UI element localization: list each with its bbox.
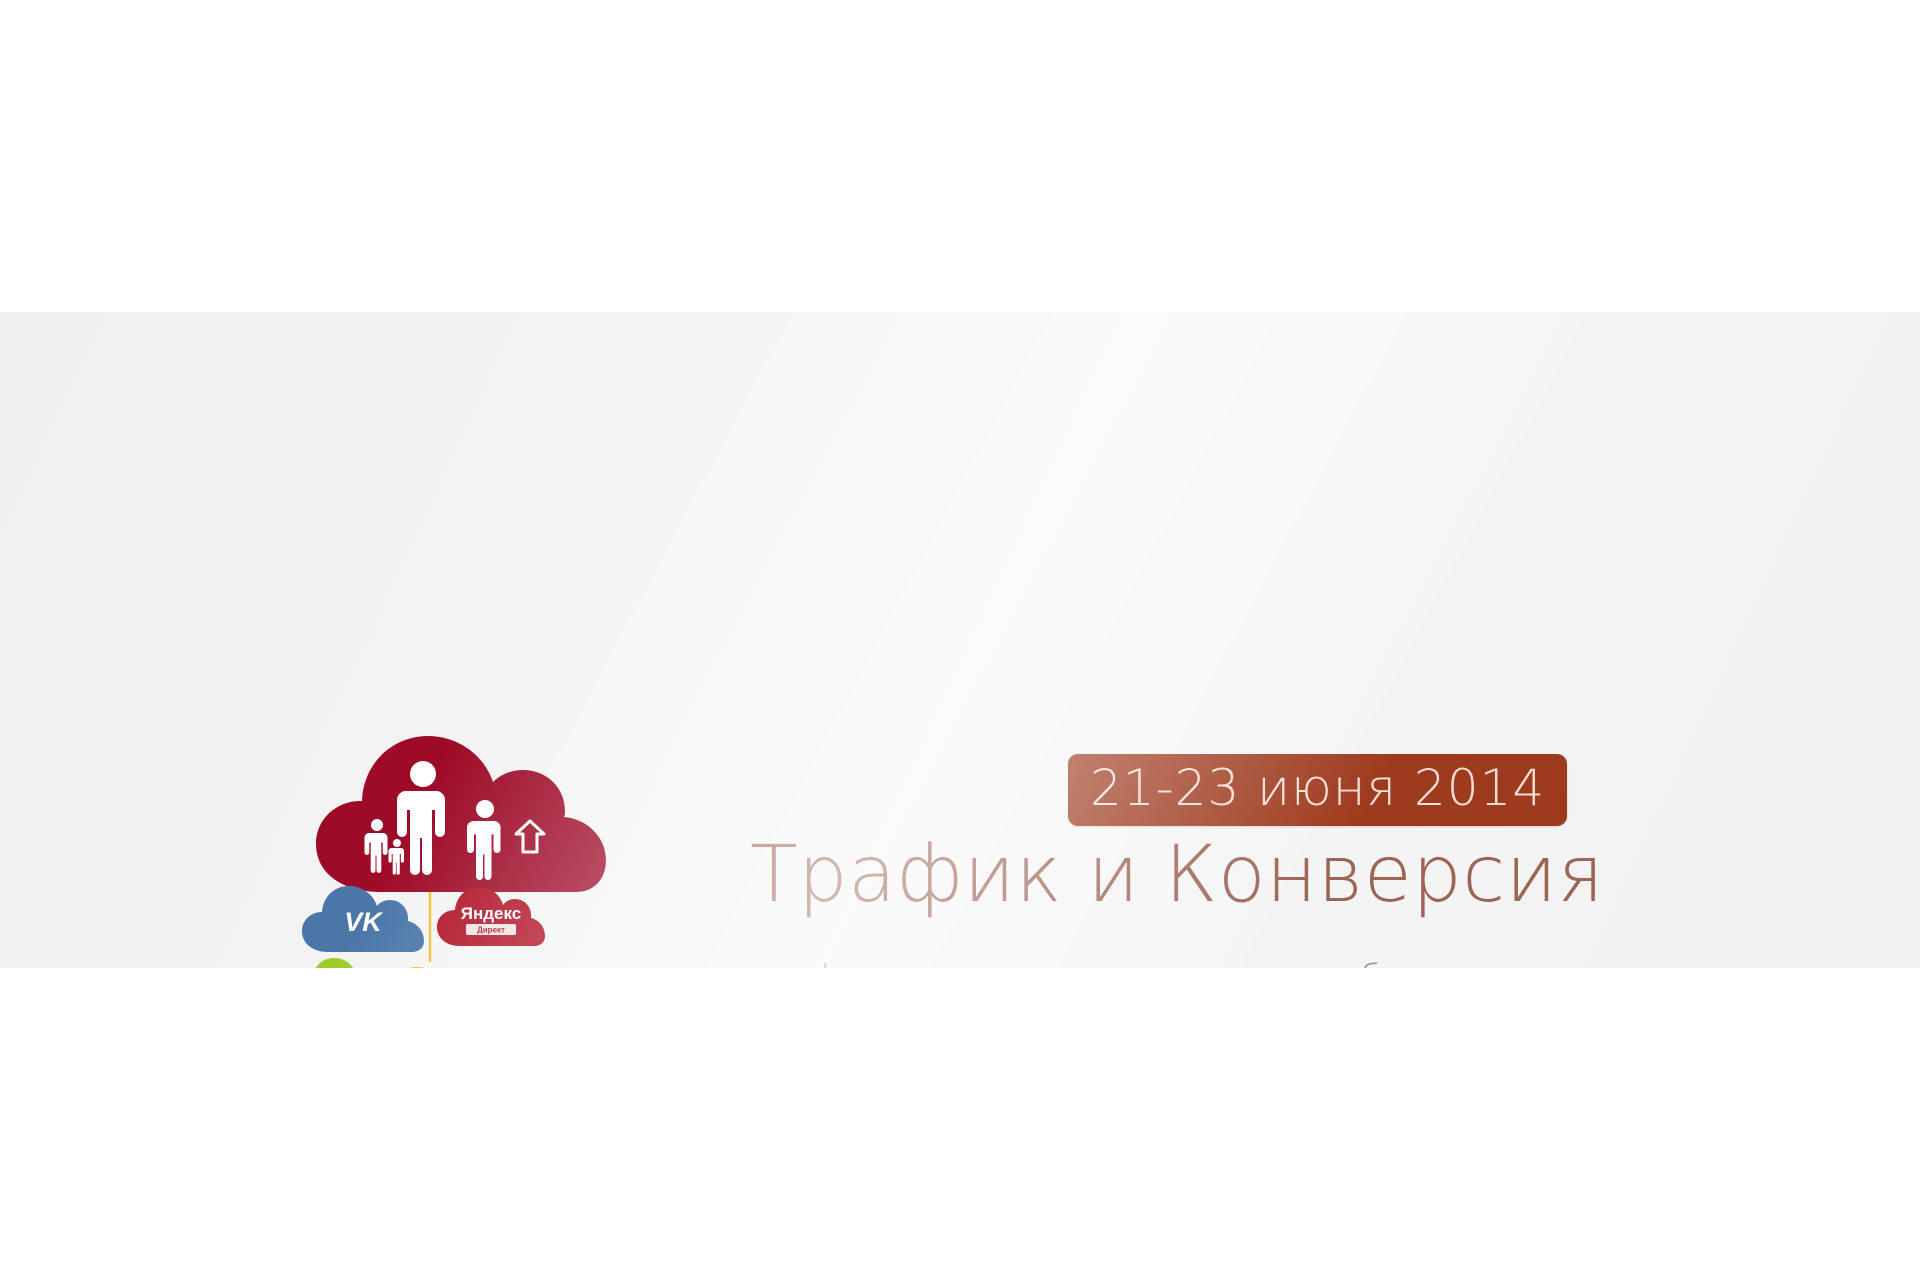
- conference-banner: VK Яндекс Директ: [0, 312, 1920, 968]
- page-title: Трафик и Конверсия: [750, 832, 1604, 918]
- audience-cloud: [316, 736, 606, 892]
- page-canvas: VK Яндекс Директ: [0, 0, 1920, 1280]
- mail-cloud[interactable]: [300, 958, 394, 968]
- yandex-label: Яндекс: [461, 904, 521, 923]
- banner-text-block: 21-23 июня 2014 Трафик и Конверсия конфе…: [750, 742, 1650, 968]
- yandex-direct-label: Директ: [477, 926, 505, 935]
- yandex-cloud[interactable]: Яндекс Директ: [437, 887, 545, 946]
- date-badge: 21-23 июня 2014: [1068, 754, 1567, 826]
- vk-cloud[interactable]: VK: [302, 886, 424, 952]
- subtitle-line-1: конференция о тонких и высокоприбыльных: [752, 954, 1509, 968]
- cloud-illustration: VK Яндекс Директ: [300, 712, 640, 968]
- vk-icon: VK: [344, 907, 384, 937]
- banner-subtitle: конференция о тонких и высокоприбыльных …: [752, 954, 1509, 968]
- date-badge-text: 21-23 июня 2014: [1090, 760, 1545, 816]
- laptop-cloud[interactable]: [370, 967, 492, 968]
